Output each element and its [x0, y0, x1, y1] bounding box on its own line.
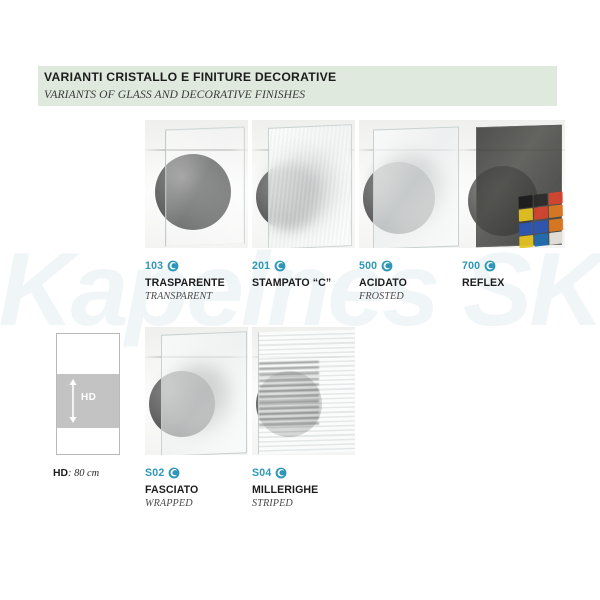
- variant-image-103: [145, 120, 248, 248]
- reflection-swatch: [519, 208, 533, 222]
- variant-code-S04: S04: [252, 466, 370, 480]
- variant-caption-S02: S02 FASCIATO WRAPPED: [145, 466, 263, 510]
- variant-name-S02: FASCIATO: [145, 484, 263, 496]
- hd-diagram: HD: [56, 333, 120, 455]
- variant-code-500: 500: [359, 259, 477, 273]
- glass-swirl-icon: [168, 467, 180, 479]
- glass-sheet-clear: [165, 126, 244, 246]
- variant-sub-S04: STRIPED: [252, 498, 370, 510]
- reflection-swatch: [534, 220, 548, 234]
- code-text: 700: [462, 260, 480, 272]
- code-text: 103: [145, 260, 163, 272]
- stripe-shadow: [259, 361, 319, 429]
- variant-card-S04[interactable]: [252, 327, 355, 455]
- page-title-it: VARIANTI CRISTALLO E FINITURE DECORATIVE: [44, 70, 564, 85]
- glass-sheet-striped: [258, 330, 355, 455]
- header: VARIANTI CRISTALLO E FINITURE DECORATIVE…: [44, 70, 564, 102]
- variant-card-500[interactable]: [359, 120, 462, 248]
- variant-card-103[interactable]: [145, 120, 248, 248]
- glass-swirl-icon: [275, 467, 287, 479]
- code-text: S02: [145, 467, 164, 479]
- glass-sheet-frosted: [373, 126, 459, 248]
- code-text: 500: [359, 260, 377, 272]
- variant-image-S04: [252, 327, 355, 455]
- variant-name-201: STAMPATO “C”: [252, 277, 370, 289]
- variant-caption-S04: S04 MILLERIGHE STRIPED: [252, 466, 370, 510]
- variant-name-103: TRASPARENTE: [145, 277, 263, 289]
- reflection-swatch: [534, 233, 548, 247]
- hd-caption-bold: HD: [53, 468, 68, 479]
- variant-image-S02: [145, 327, 248, 455]
- color-reflection-grid: [519, 191, 564, 248]
- hd-band: HD: [57, 374, 119, 428]
- variant-caption-700: 700 REFLEX: [462, 259, 580, 291]
- variant-image-201: [252, 120, 355, 248]
- variant-sub-500: FROSTED: [359, 291, 477, 303]
- variant-code-700: 700: [462, 259, 580, 273]
- reflection-swatch: [550, 231, 564, 245]
- reflection-swatch: [549, 191, 563, 205]
- glass-sheet-textured: [268, 124, 352, 248]
- variant-name-500: ACIDATO: [359, 277, 477, 289]
- variant-image-500: [359, 120, 462, 248]
- reflection-swatch: [519, 235, 533, 248]
- variant-card-700[interactable]: [462, 120, 565, 248]
- glass-sheet-wrapped: [161, 331, 247, 455]
- variant-caption-201: 201 STAMPATO “C”: [252, 259, 370, 291]
- variant-card-S02[interactable]: [145, 327, 248, 455]
- hd-caption: HD: 80 cm: [53, 468, 99, 479]
- variant-sub-103: TRANSPARENT: [145, 291, 263, 303]
- reflection-swatch: [519, 222, 533, 236]
- reflection-swatch: [549, 218, 563, 232]
- glass-swirl-icon: [484, 260, 496, 272]
- variant-code-S02: S02: [145, 466, 263, 480]
- reflection-swatch: [534, 207, 548, 221]
- glass-swirl-icon: [381, 260, 393, 272]
- variant-caption-103: 103 TRASPARENTE TRANSPARENT: [145, 259, 263, 303]
- glass-swirl-icon: [274, 260, 286, 272]
- variant-sub-S02: WRAPPED: [145, 498, 263, 510]
- code-text: 201: [252, 260, 270, 272]
- reflection-swatch: [519, 195, 533, 209]
- variant-caption-500: 500 ACIDATO FROSTED: [359, 259, 477, 303]
- catalog-page: Kapelnes SK VARIANTI CRISTALLO E FINITUR…: [0, 0, 600, 600]
- hd-dimension-arrow: [68, 379, 78, 423]
- hd-inner-label: HD: [81, 392, 96, 403]
- reflection-swatch: [534, 193, 548, 207]
- variant-name-700: REFLEX: [462, 277, 580, 289]
- code-text: S04: [252, 467, 271, 479]
- reflection-swatch: [549, 205, 563, 219]
- page-title-en: VARIANTS OF GLASS AND DECORATIVE FINISHE…: [44, 87, 564, 102]
- variant-name-S04: MILLERIGHE: [252, 484, 370, 496]
- variant-card-201[interactable]: [252, 120, 355, 248]
- glass-swirl-icon: [167, 260, 179, 272]
- variant-code-201: 201: [252, 259, 370, 273]
- variant-image-700: [462, 120, 565, 248]
- variant-code-103: 103: [145, 259, 263, 273]
- hd-caption-value: : 80 cm: [68, 468, 99, 479]
